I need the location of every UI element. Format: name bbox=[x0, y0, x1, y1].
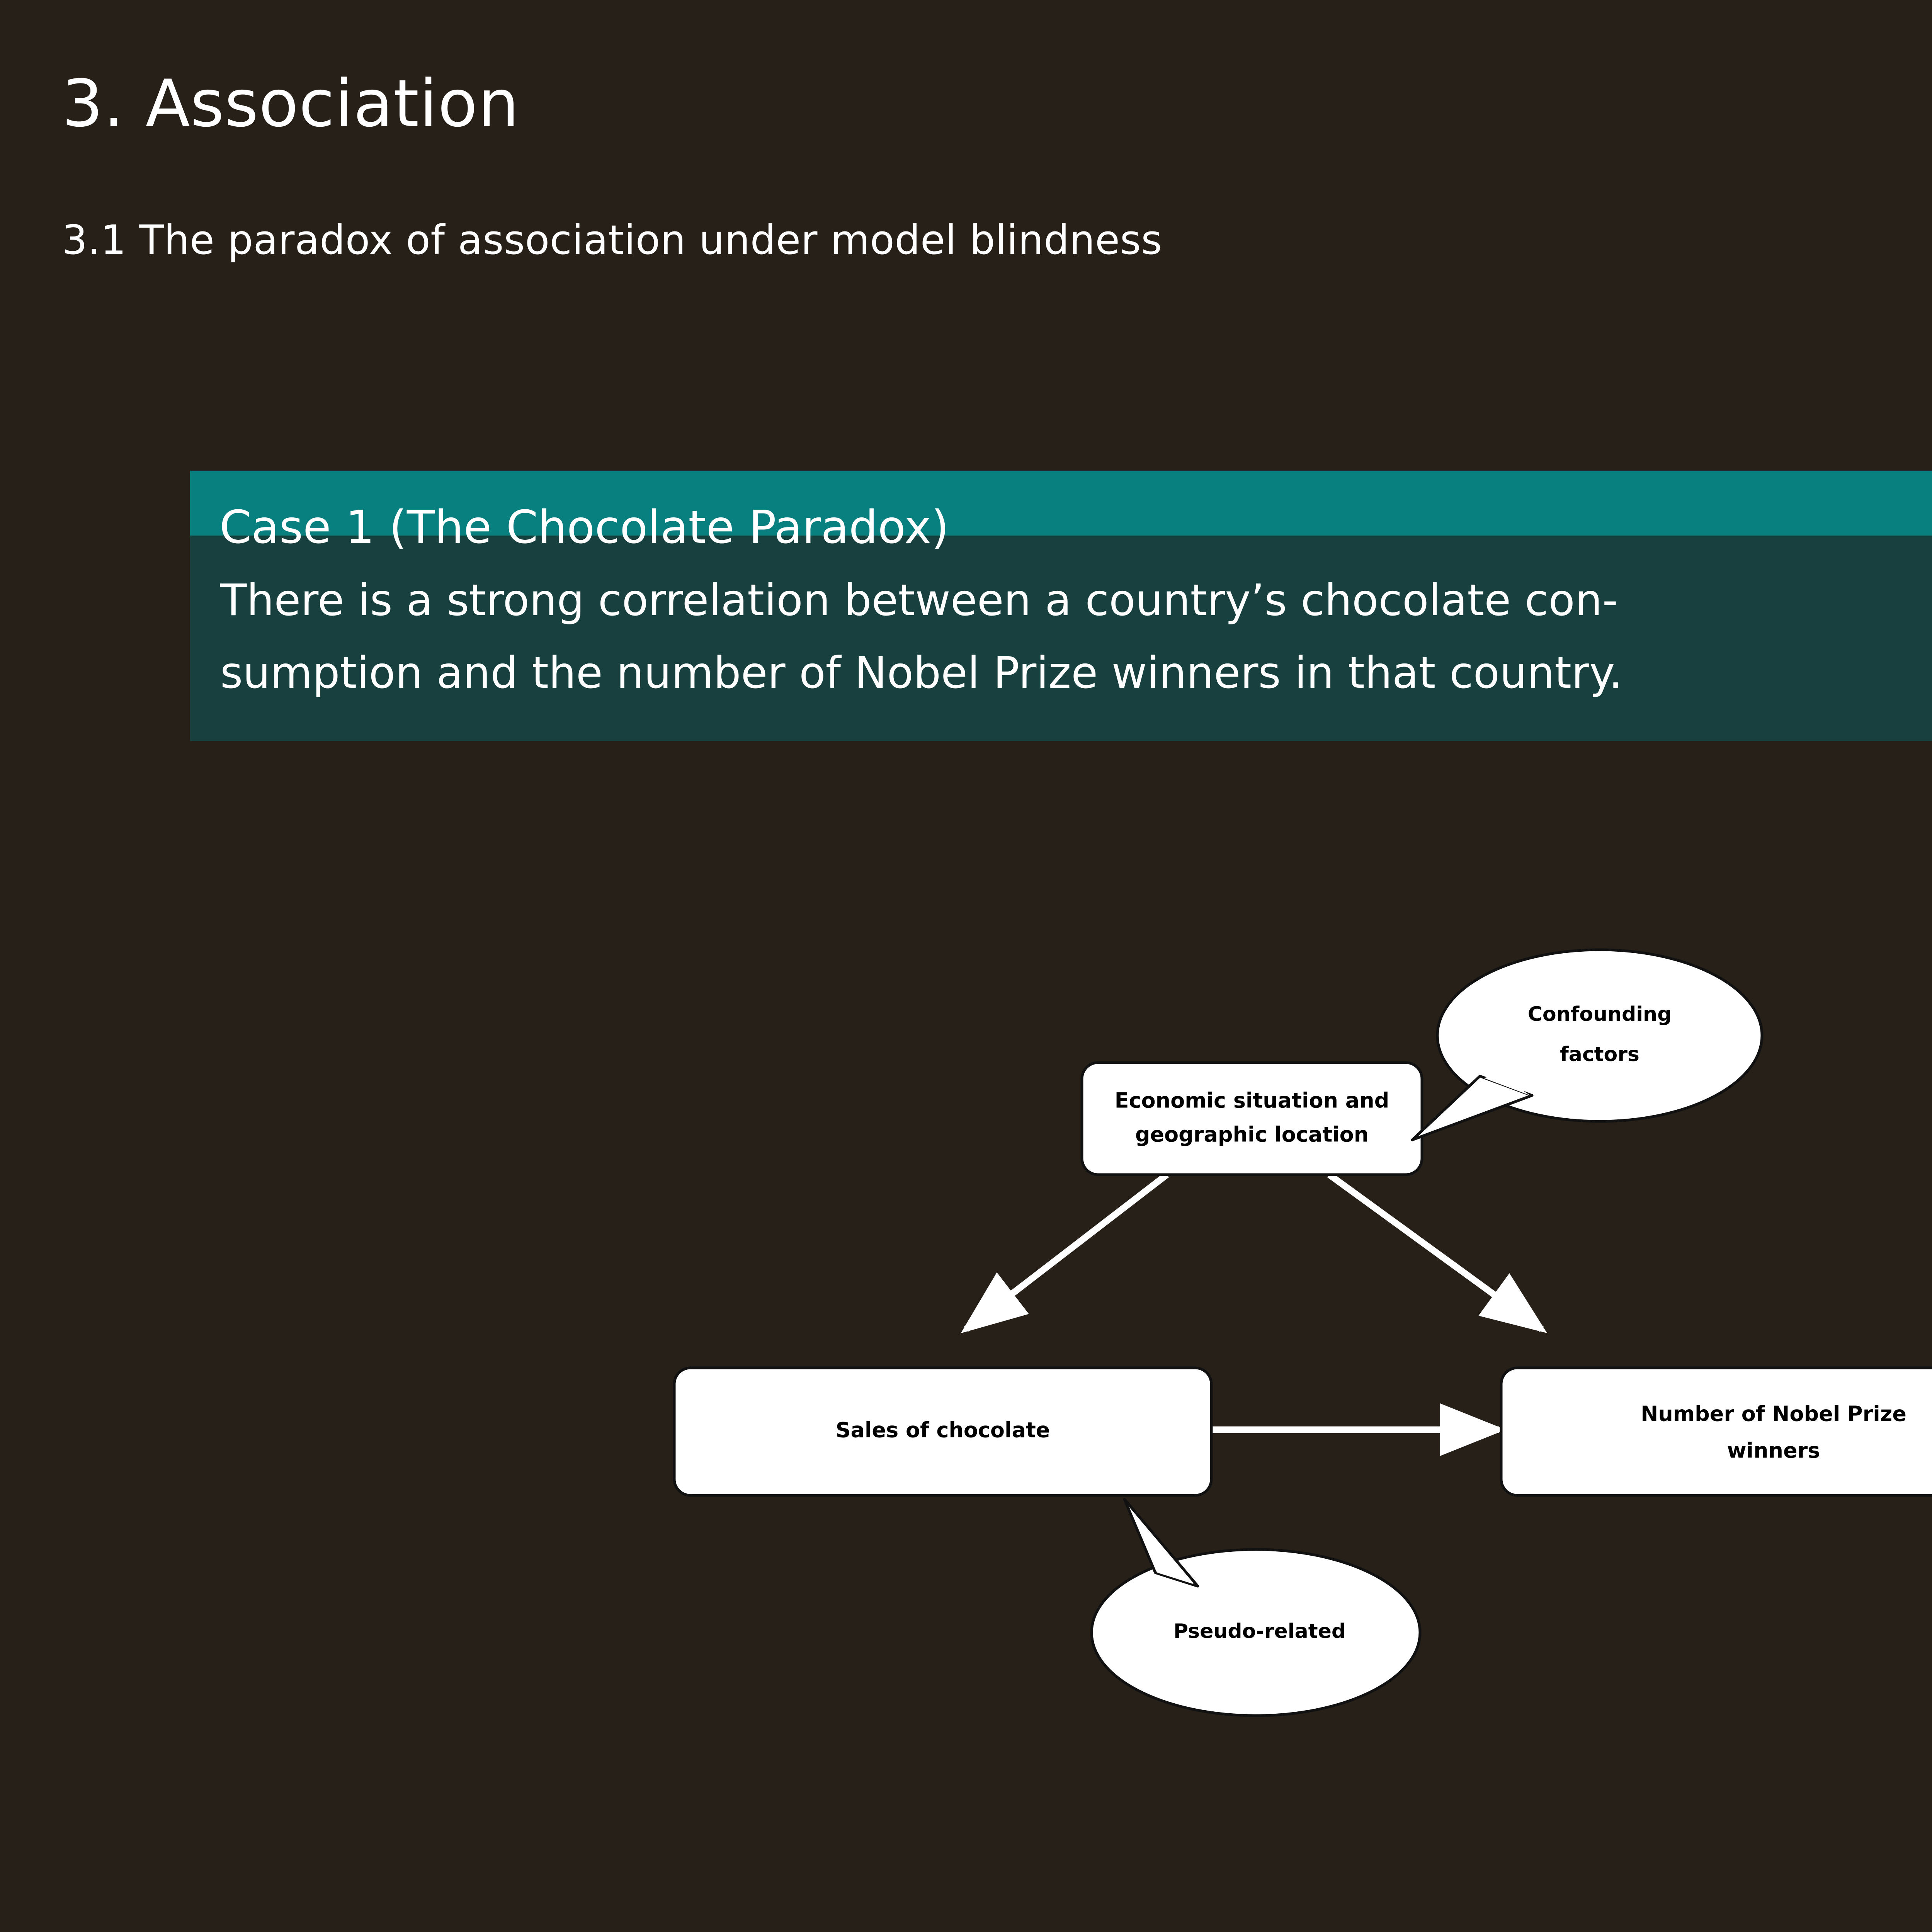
case-block: Case 1 (The Chocolate Paradox) There is … bbox=[190, 471, 1932, 741]
callout-pseudo-label: Pseudo-related bbox=[1173, 1620, 1346, 1643]
callout-confounding-line-2: factors bbox=[1560, 1043, 1639, 1066]
callout-confounding-line-1: Confounding bbox=[1528, 1003, 1672, 1026]
node-chocolate-label: Sales of chocolate bbox=[836, 1418, 1050, 1442]
node-nobel-line-2: winners bbox=[1727, 1439, 1820, 1463]
page-title: 3. Association bbox=[62, 66, 519, 141]
node-nobel[interactable]: Number of Nobel Prize winners bbox=[1501, 1368, 1932, 1495]
case-block-title: Case 1 (The Chocolate Paradox) bbox=[190, 471, 1932, 536]
node-confounder-line-1: Economic situation and bbox=[1115, 1088, 1389, 1113]
node-chocolate[interactable]: Sales of chocolate bbox=[674, 1368, 1211, 1495]
slide-canvas: 3. Association 3.1 The paradox of associ… bbox=[0, 0, 1932, 1932]
causal-diagram: Economic situation and geographic locati… bbox=[657, 920, 1932, 1750]
node-confounder-line-2: geographic location bbox=[1135, 1122, 1369, 1147]
case-body-line-2: sumption and the number of Nobel Prize w… bbox=[220, 637, 1932, 709]
edge-confounder-to-nobel bbox=[1329, 1175, 1542, 1329]
callout-pseudo-related: Pseudo-related bbox=[1092, 1499, 1420, 1716]
case-block-body: There is a strong correlation between a … bbox=[190, 536, 1932, 741]
node-confounder[interactable]: Economic situation and geographic locati… bbox=[1082, 1063, 1422, 1175]
section-subtitle: 3.1 The paradox of association under mod… bbox=[62, 216, 1162, 264]
node-nobel-line-1: Number of Nobel Prize bbox=[1641, 1402, 1906, 1426]
edge-confounder-to-chocolate bbox=[966, 1175, 1167, 1329]
case-body-line-1: There is a strong correlation between a … bbox=[220, 575, 1618, 626]
